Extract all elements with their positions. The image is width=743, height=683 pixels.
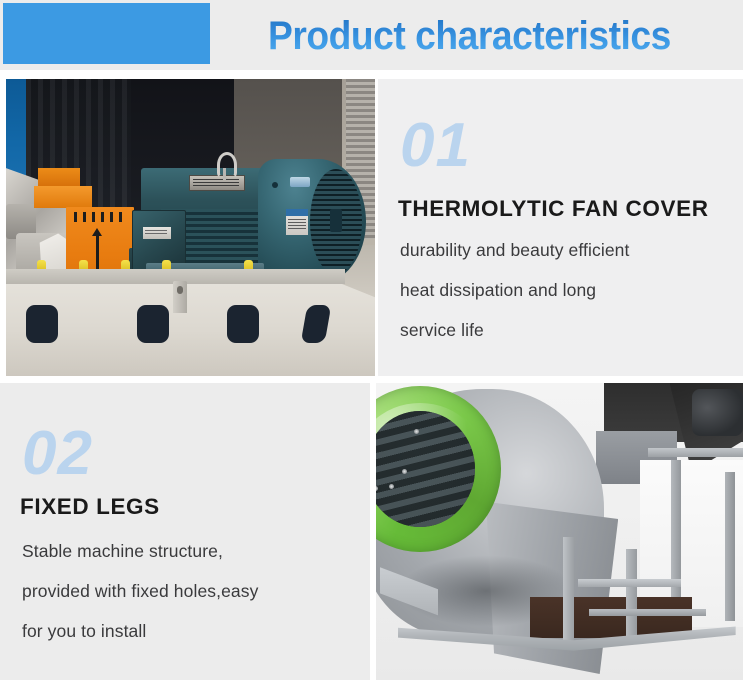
blue-sticker-label <box>286 209 308 235</box>
frame-crossbar <box>589 609 706 616</box>
description-line: durability and beauty efficient <box>400 230 730 270</box>
motor-nameplate <box>189 175 245 191</box>
ring-screw <box>414 429 419 434</box>
description-line: service life <box>400 310 730 350</box>
description-line: Stable machine structure, <box>22 531 352 571</box>
impeller-blades <box>376 411 475 527</box>
hook-stem <box>223 168 226 180</box>
brand-badge <box>290 177 310 187</box>
fan-cover-center <box>330 209 342 231</box>
feature-01-text-panel: 01 THERMOLYTIC FAN COVER durability and … <box>378 79 743 376</box>
cover-bolt <box>272 182 278 188</box>
orange-box-upper <box>38 168 80 186</box>
description-line: for you to install <box>22 611 352 651</box>
feature-row-02: 02 FIXED LEGS Stable machine structure, … <box>0 383 743 680</box>
floor-shadow-area <box>530 597 691 639</box>
feature-row-01: 01 THERMOLYTIC FAN COVER durability and … <box>0 79 743 376</box>
orange-box-top <box>34 186 92 208</box>
blower-photo <box>376 383 743 680</box>
product-characteristics-page: Product characteristics <box>0 0 743 683</box>
rear-motor <box>692 389 743 437</box>
feature-heading-01: THERMOLYTIC FAN COVER <box>398 198 709 221</box>
description-line: provided with fixed holes,easy <box>22 571 352 611</box>
feature-heading-02: FIXED LEGS <box>20 496 160 519</box>
feature-number-02: 02 <box>22 423 93 485</box>
base-opening <box>227 305 259 343</box>
frame-crossbar <box>578 579 681 587</box>
motor-photo <box>6 79 375 376</box>
base-opening <box>26 305 58 343</box>
header-accent-block <box>3 3 210 64</box>
base-bracket <box>173 281 187 313</box>
inlet-interior <box>376 411 475 527</box>
frame-crossbar <box>648 448 743 457</box>
feature-01-image <box>6 79 375 376</box>
feature-02-text-panel: 02 FIXED LEGS Stable machine structure, … <box>0 383 370 680</box>
terminal-label <box>143 227 171 239</box>
description-line: heat dissipation and long <box>400 270 730 310</box>
fixed-leg <box>725 472 735 621</box>
thermolytic-fan-cover <box>258 159 366 284</box>
up-arrow-icon <box>96 233 99 273</box>
chevron-stripe <box>74 212 126 222</box>
fixed-leg <box>563 537 574 644</box>
page-title: Product characteristics <box>268 12 696 60</box>
feature-number-01: 01 <box>400 115 471 177</box>
page-header: Product characteristics <box>0 0 743 70</box>
lifting-hook-icon <box>217 152 237 178</box>
feature-description-01: durability and beauty efficient heat dis… <box>400 230 730 350</box>
feature-description-02: Stable machine structure, provided with … <box>22 531 352 651</box>
base-opening <box>137 305 169 343</box>
fixed-leg <box>626 549 637 644</box>
feature-02-image <box>376 383 743 680</box>
